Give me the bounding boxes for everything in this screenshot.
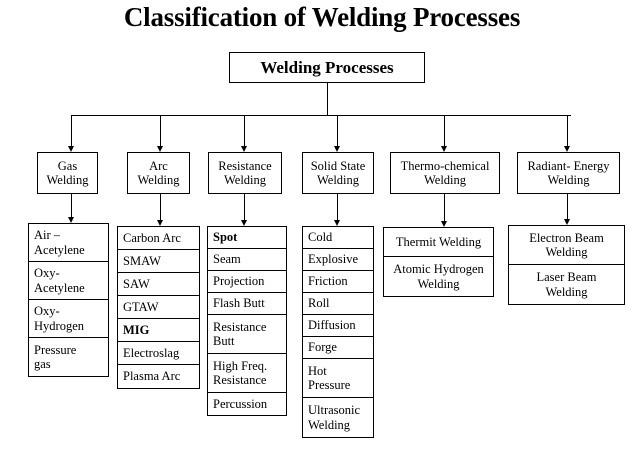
process-item-label: UltrasonicWelding	[308, 403, 360, 432]
process-list-resistance-welding: SpotSeamProjectionFlash ButtResistanceBu…	[207, 226, 287, 416]
process-item-label: Friction	[308, 274, 348, 288]
page-title: Classification of Welding Processes	[0, 2, 644, 33]
connector-solid-state-welding-to-list	[337, 194, 338, 221]
process-item-label: Projection	[213, 274, 264, 288]
process-item-label: MIG	[123, 323, 149, 337]
process-item-label: Flash Butt	[213, 296, 265, 310]
process-item-label: GTAW	[123, 300, 159, 314]
process-item[interactable]: SMAW	[118, 250, 199, 273]
process-item-label: Cold	[308, 230, 332, 244]
process-item[interactable]: Plasma Arc	[118, 365, 199, 388]
process-item[interactable]: MIG	[118, 319, 199, 342]
process-item[interactable]: Percussion	[208, 393, 286, 415]
connector-resistance-welding-to-list	[244, 194, 245, 221]
process-item-label: Seam	[213, 252, 241, 266]
category-box-arc-welding[interactable]: ArcWelding	[127, 152, 190, 194]
process-item[interactable]: Laser BeamWelding	[509, 265, 624, 304]
connector-bus-to-arc-welding	[160, 115, 161, 147]
category-label: Solid StateWelding	[311, 159, 366, 187]
root-node-welding-processes: Welding Processes	[229, 52, 425, 83]
process-item[interactable]: Friction	[303, 271, 373, 293]
process-item[interactable]: Atomic HydrogenWelding	[384, 257, 493, 296]
process-item[interactable]: Seam	[208, 249, 286, 271]
process-item[interactable]: ResistanceButt	[208, 315, 286, 354]
process-list-thermo-chemical-welding: Thermit WeldingAtomic HydrogenWelding	[383, 227, 494, 297]
process-item-label: Roll	[308, 296, 330, 310]
process-item[interactable]: Electroslag	[118, 342, 199, 365]
process-item-label: High Freq.Resistance	[213, 359, 267, 388]
process-item[interactable]: Cold	[303, 227, 373, 249]
process-item-label: Spot	[213, 230, 237, 244]
process-item[interactable]: Carbon Arc	[118, 227, 199, 250]
process-item[interactable]: Pressuregas	[29, 338, 108, 376]
process-item[interactable]: Oxy-Hydrogen	[29, 300, 108, 338]
process-item[interactable]: Roll	[303, 293, 373, 315]
process-item[interactable]: Oxy-Acetylene	[29, 262, 108, 300]
process-item-label: Oxy-Acetylene	[34, 266, 85, 295]
process-item-label: HotPressure	[308, 364, 350, 393]
process-item-label: SMAW	[123, 254, 161, 268]
process-item[interactable]: High Freq.Resistance	[208, 354, 286, 393]
process-item-label: Air –Acetylene	[34, 228, 85, 257]
process-item-label: Laser BeamWelding	[536, 270, 596, 299]
category-box-thermo-chemical-welding[interactable]: Thermo-chemicalWelding	[390, 152, 500, 194]
process-item-label: Diffusion	[308, 318, 356, 332]
process-list-solid-state-welding: ColdExplosiveFrictionRollDiffusionForgeH…	[302, 226, 374, 438]
category-label: Radiant- EnergyWelding	[527, 159, 609, 187]
process-item[interactable]: Diffusion	[303, 315, 373, 337]
category-label: GasWelding	[46, 159, 88, 187]
process-item-label: Electroslag	[123, 346, 179, 360]
process-item[interactable]: Explosive	[303, 249, 373, 271]
process-item-label: Forge	[308, 340, 337, 354]
bus-connector	[71, 115, 571, 116]
process-item-label: Percussion	[213, 397, 267, 411]
diagram-canvas: Classification of Welding Processes Weld…	[0, 0, 644, 450]
category-label: ResistanceWelding	[218, 159, 271, 187]
connector-bus-to-solid-state-welding	[337, 115, 338, 147]
category-label: ArcWelding	[137, 159, 179, 187]
process-item[interactable]: Thermit Welding	[384, 228, 493, 257]
process-item-label: Electron BeamWelding	[529, 231, 604, 260]
connector-bus-to-thermo-chemical-welding	[444, 115, 445, 147]
process-item[interactable]: SAW	[118, 273, 199, 296]
process-item[interactable]: Flash Butt	[208, 293, 286, 315]
process-item-label: Plasma Arc	[123, 369, 180, 383]
connector-radiant-energy-welding-to-list	[567, 194, 568, 220]
category-box-solid-state-welding[interactable]: Solid StateWelding	[302, 152, 374, 194]
root-stem-connector	[327, 83, 328, 115]
process-item[interactable]: GTAW	[118, 296, 199, 319]
process-item-label: SAW	[123, 277, 150, 291]
process-item-label: Carbon Arc	[123, 231, 181, 245]
connector-arc-welding-to-list	[160, 194, 161, 221]
root-node-label: Welding Processes	[260, 58, 393, 77]
connector-bus-to-radiant-energy-welding	[567, 115, 568, 147]
process-list-gas-welding: Air –AcetyleneOxy-AcetyleneOxy-HydrogenP…	[28, 223, 109, 377]
process-item[interactable]: HotPressure	[303, 359, 373, 398]
process-item[interactable]: Air –Acetylene	[29, 224, 108, 262]
process-item-label: Pressuregas	[34, 343, 76, 372]
process-item-label: Atomic HydrogenWelding	[393, 262, 484, 291]
category-box-gas-welding[interactable]: GasWelding	[37, 152, 98, 194]
category-label: Thermo-chemicalWelding	[401, 159, 490, 187]
process-item[interactable]: UltrasonicWelding	[303, 398, 373, 437]
process-item-label: ResistanceButt	[213, 320, 266, 349]
connector-thermo-chemical-welding-to-list	[444, 194, 445, 222]
connector-bus-to-resistance-welding	[244, 115, 245, 147]
process-item[interactable]: Forge	[303, 337, 373, 359]
process-item-label: Oxy-Hydrogen	[34, 304, 84, 333]
category-box-resistance-welding[interactable]: ResistanceWelding	[208, 152, 282, 194]
connector-bus-to-gas-welding	[71, 115, 72, 147]
process-item-label: Explosive	[308, 252, 358, 266]
process-item[interactable]: Electron BeamWelding	[509, 226, 624, 265]
process-item-label: Thermit Welding	[396, 235, 481, 249]
process-item[interactable]: Projection	[208, 271, 286, 293]
connector-gas-welding-to-list	[71, 194, 72, 218]
process-list-arc-welding: Carbon ArcSMAWSAWGTAWMIGElectroslagPlasm…	[117, 226, 200, 389]
process-item[interactable]: Spot	[208, 227, 286, 249]
category-box-radiant-energy-welding[interactable]: Radiant- EnergyWelding	[517, 152, 620, 194]
process-list-radiant-energy-welding: Electron BeamWeldingLaser BeamWelding	[508, 225, 625, 305]
